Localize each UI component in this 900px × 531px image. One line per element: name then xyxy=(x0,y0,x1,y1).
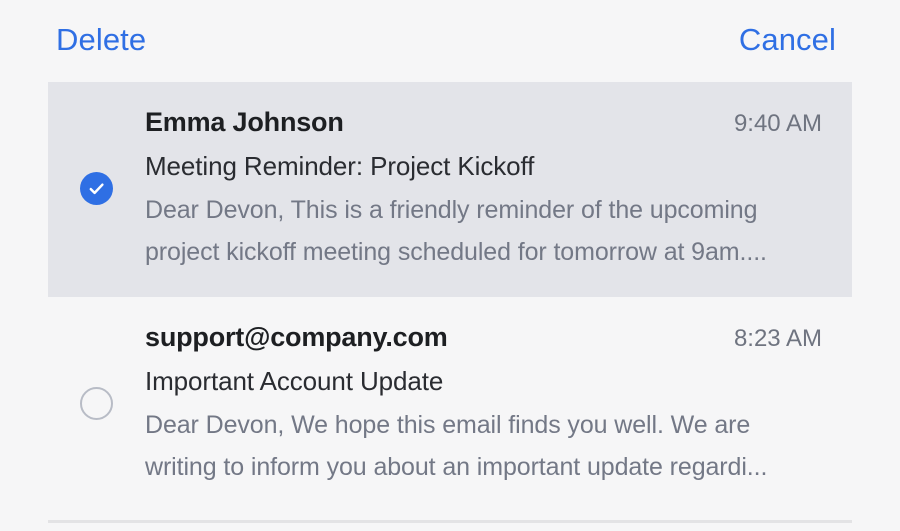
message-selection-screen: Delete Cancel Emma Johnson 9:40 AM Meeti… xyxy=(0,0,900,526)
message-content: Emma Johnson 9:40 AM Meeting Reminder: P… xyxy=(145,104,852,273)
message-timestamp: 8:23 AM xyxy=(734,322,822,356)
message-preview: Dear Devon, This is a friendly reminder … xyxy=(145,189,805,273)
message-preview: Dear Devon, We hope this email finds you… xyxy=(145,404,805,488)
message-content: support@company.com 8:23 AM Important Ac… xyxy=(145,319,852,488)
delete-button[interactable]: Delete xyxy=(56,20,146,60)
list-divider xyxy=(48,520,852,523)
message-row-selected[interactable]: Emma Johnson 9:40 AM Meeting Reminder: P… xyxy=(48,82,852,297)
circle-outline-icon[interactable] xyxy=(80,387,113,420)
message-sender: Emma Johnson xyxy=(145,104,344,140)
message-header: support@company.com 8:23 AM xyxy=(145,319,822,356)
check-circle-filled-icon[interactable] xyxy=(80,172,113,205)
message-row[interactable]: support@company.com 8:23 AM Important Ac… xyxy=(48,297,852,512)
message-list: Emma Johnson 9:40 AM Meeting Reminder: P… xyxy=(0,82,900,531)
message-sender: support@company.com xyxy=(145,319,448,355)
cancel-button[interactable]: Cancel xyxy=(739,20,836,60)
message-subject: Important Account Update xyxy=(145,361,822,401)
toolbar: Delete Cancel xyxy=(0,0,900,82)
message-subject: Meeting Reminder: Project Kickoff xyxy=(145,146,822,186)
message-header: Emma Johnson 9:40 AM xyxy=(145,104,822,141)
selection-marker[interactable] xyxy=(48,387,145,420)
message-timestamp: 9:40 AM xyxy=(734,107,822,141)
selection-marker[interactable] xyxy=(48,172,145,205)
